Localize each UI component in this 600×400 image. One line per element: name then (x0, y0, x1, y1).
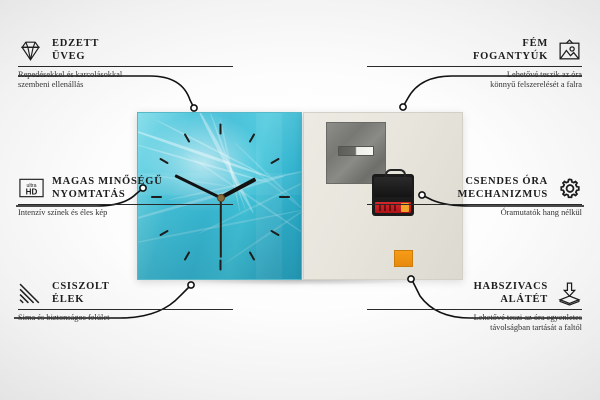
divider (18, 66, 233, 67)
feature-description: Lehetővé teszik az óra könnyű felszerelé… (367, 70, 582, 90)
ultra-hd-icon: ultra HD (18, 176, 43, 201)
connector-dot (191, 105, 197, 111)
feature-title: EDZETT ÜVEG (52, 38, 99, 63)
clock-mark (279, 196, 290, 198)
polished-edges-icon (18, 281, 43, 306)
hanger-slot (338, 146, 374, 156)
picture-hanger-icon (557, 38, 582, 63)
feature-description: Sima és biztonságos felület (18, 313, 233, 323)
feature-tempered-glass: EDZETT ÜVEG Repedésekkel és karcolásokka… (18, 38, 233, 90)
foam-backing-icon (557, 281, 582, 306)
feature-metal-hangers: FÉM FOGANTYÚK Lehetővé teszik az óra kön… (367, 38, 582, 90)
feature-title: MAGAS MINŐSÉGŰ NYOMTATÁS (52, 176, 163, 201)
feature-title: CSENDES ÓRA MECHANIZMUS (457, 176, 548, 201)
gear-icon (557, 176, 582, 201)
feature-silent-mechanism: CSENDES ÓRA MECHANIZMUS Óramutatók hang … (367, 176, 582, 218)
feature-title: HABSZIVACS ALÁTÉT (474, 281, 548, 306)
divider (367, 309, 582, 310)
feature-description: Intenzív színek és éles kép (18, 208, 233, 218)
feature-description: Lehetővé teszi az óra egyenletes távolsá… (367, 313, 582, 333)
foam-pad (394, 250, 413, 267)
divider (18, 204, 233, 205)
feature-description: Repedésekkel és karcolásokkal szembeni e… (18, 70, 233, 90)
clock-mark (219, 124, 221, 135)
divider (18, 309, 233, 310)
feature-title: CSISZOLT ÉLEK (52, 281, 110, 306)
connector-dot (400, 104, 406, 110)
infographic-canvas: EDZETT ÜVEG Repedésekkel és karcolásokka… (0, 0, 600, 400)
divider (367, 66, 582, 67)
feature-polished-edges: CSISZOLT ÉLEK Sima és biztonságos felüle… (18, 281, 233, 323)
feature-hd-print: ultra HD MAGAS MINŐSÉGŰ NYOMTATÁS Intenz… (18, 176, 233, 218)
feature-foam-backing: HABSZIVACS ALÁTÉT Lehetővé teszi az óra … (367, 281, 582, 333)
feature-title: FÉM FOGANTYÚK (473, 38, 548, 63)
feature-description: Óramutatók hang nélkül (367, 208, 582, 218)
clock-mark (219, 260, 221, 271)
diamond-icon (18, 38, 43, 63)
divider (367, 204, 582, 205)
svg-text:HD: HD (26, 188, 38, 197)
